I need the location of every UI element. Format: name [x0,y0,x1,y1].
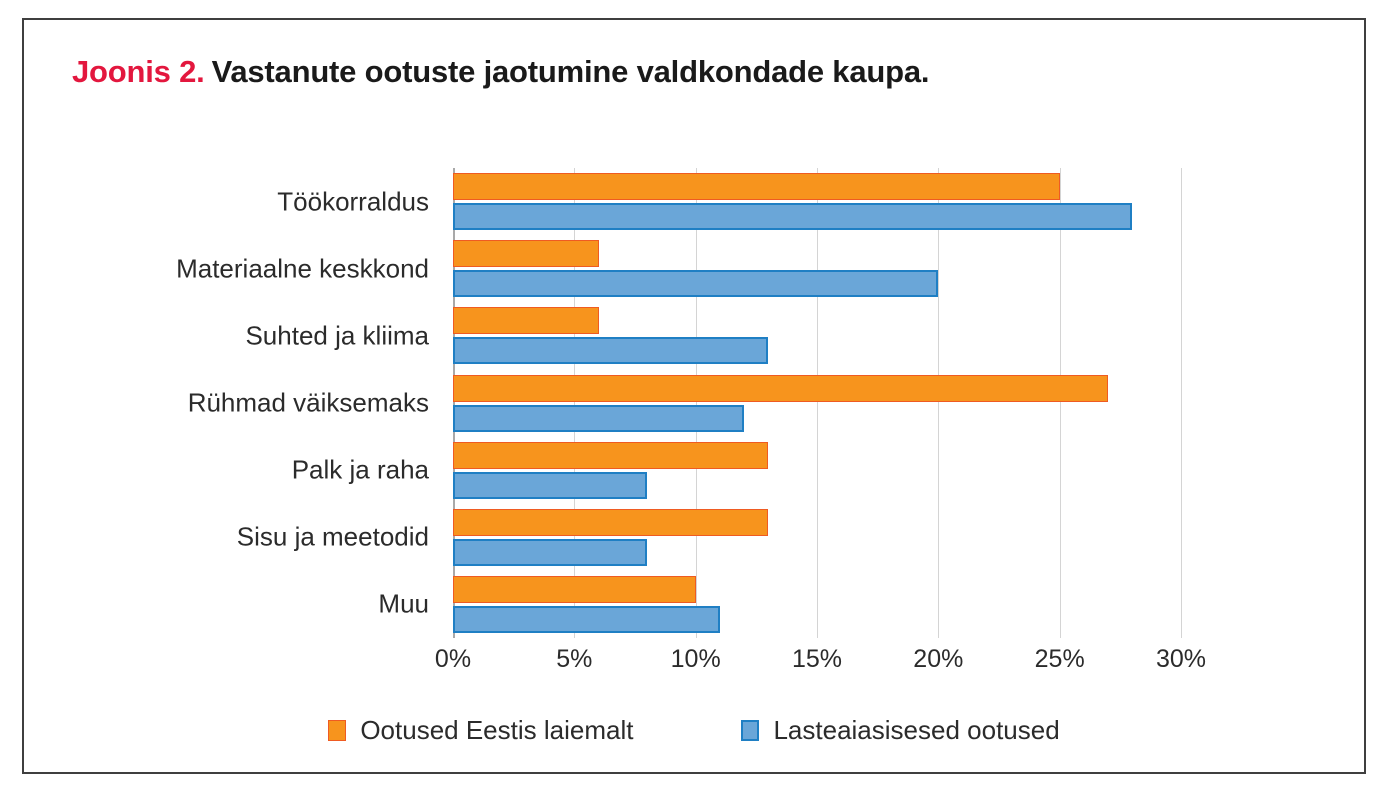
figure-title: Joonis 2.Vastanute ootuste jaotumine val… [72,54,929,90]
value-axis-line [453,168,455,638]
figure-number: Joonis 2. [72,54,205,89]
bar-orange [453,442,768,469]
bar-blue [453,405,744,432]
bar-orange [453,375,1108,402]
bar-blue [453,337,768,364]
legend-label: Lasteaiasisesed ootused [773,715,1059,746]
category-label: Suhted ja kliima [84,320,429,351]
gridline [1060,168,1061,638]
bar-blue [453,539,647,566]
legend-label: Ootused Eestis laiemalt [360,715,633,746]
bar-blue [453,606,720,633]
bar-orange [453,576,696,603]
category-label: Materiaalne keskkond [84,253,429,284]
category-label: Sisu ja meetodid [84,522,429,553]
chart-plot-area: TöökorraldusMateriaalne keskkondSuhted j… [24,140,1364,660]
legend-swatch-orange [328,720,346,741]
figure-frame: Joonis 2.Vastanute ootuste jaotumine val… [22,18,1366,774]
bar-orange [453,240,599,267]
bars-canvas [453,168,1181,638]
bar-blue [453,472,647,499]
category-label: Palk ja raha [84,455,429,486]
category-axis-labels: TöökorraldusMateriaalne keskkondSuhted j… [84,168,429,638]
bar-orange [453,173,1060,200]
category-label: Töökorraldus [84,186,429,217]
category-label: Rühmad väiksemaks [84,388,429,419]
gridline [696,168,697,638]
value-axis-tick-label: 30% [1156,645,1206,674]
bar-orange [453,509,768,536]
bar-blue [453,270,938,297]
value-axis-tick-label: 15% [792,645,842,674]
gridline [817,168,818,638]
value-axis-ticks: 0%5%10%15%20%25%30% [453,645,1181,685]
gridline [938,168,939,638]
chart-legend: Ootused Eestis laiemaltLasteaiasisesed o… [24,715,1364,746]
value-axis-tick-label: 0% [435,645,471,674]
gridline [1181,168,1182,638]
gridline [574,168,575,638]
value-axis-tick-label: 25% [1035,645,1085,674]
figure-title-text: Vastanute ootuste jaotumine valdkondade … [212,54,930,89]
legend-swatch-blue [741,720,759,741]
bar-blue [453,203,1132,230]
value-axis-tick-label: 10% [671,645,721,674]
value-axis-tick-label: 5% [556,645,592,674]
category-label: Muu [84,589,429,620]
legend-item[interactable]: Lasteaiasisesed ootused [741,715,1059,746]
value-axis-tick-label: 20% [913,645,963,674]
bar-orange [453,307,599,334]
legend-item[interactable]: Ootused Eestis laiemalt [328,715,633,746]
